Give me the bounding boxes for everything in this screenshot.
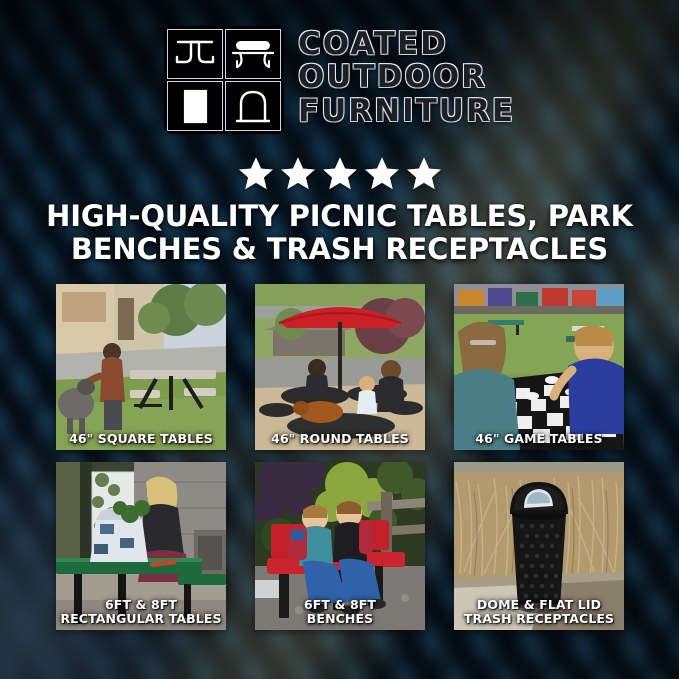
product-photo-square-tables (56, 284, 226, 450)
product-label-line-2: RECTANGULAR TABLES (59, 612, 223, 625)
product-label: 46" GAME TABLES (454, 432, 624, 445)
product-label-line-2: BENCHES (258, 612, 422, 625)
product-label-line-2: TRASH RECEPTACLES (457, 612, 621, 625)
star-rating (0, 157, 679, 190)
product-label-line-1: DOME & FLAT LID (477, 597, 601, 612)
product-label: 46" ROUND TABLES (255, 432, 425, 445)
picnic-table-icon (167, 29, 223, 79)
page-title: HIGH-QUALITY PICNIC TABLES, PARK BENCHES… (0, 200, 679, 266)
wordmark-line-1: COATED (298, 28, 515, 61)
product-tile-trash-receptacles[interactable]: DOME & FLAT LID TRASH RECEPTACLES (454, 462, 624, 630)
park-bench-icon (225, 29, 281, 79)
brand-wordmark: COATED OUTDOOR FURNITURE (298, 26, 515, 128)
headline-line-1: HIGH-QUALITY PICNIC TABLES, PARK (46, 199, 633, 233)
promo-banner: COATED OUTDOOR FURNITURE HIGH-QUALITY PI… (0, 0, 679, 679)
product-label-line-1: 46" ROUND TABLES (271, 431, 409, 446)
product-tile-game-tables[interactable]: 46" GAME TABLES (454, 284, 624, 450)
product-label-line-1: 46" GAME TABLES (475, 431, 602, 446)
product-grid: 46" SQUARE TABLES (56, 284, 624, 630)
star-icon (365, 157, 399, 190)
product-tile-rectangular-tables[interactable]: 6FT & 8FT RECTANGULAR TABLES (56, 462, 226, 630)
wordmark-line-3: FURNITURE (298, 95, 515, 128)
dome-lid-icon (225, 81, 281, 131)
product-label-line-1: 6FT & 8FT (304, 597, 376, 612)
wordmark-line-2: OUTDOOR (298, 61, 515, 94)
product-label: 6FT & 8FT RECTANGULAR TABLES (56, 598, 226, 625)
product-label: DOME & FLAT LID TRASH RECEPTACLES (454, 598, 624, 625)
headline-line-2: BENCHES & TRASH RECEPTACLES (0, 233, 679, 266)
product-tile-benches[interactable]: 6FT & 8FT BENCHES (255, 462, 425, 630)
product-photo-game-tables (454, 284, 624, 450)
product-label: 46" SQUARE TABLES (56, 432, 226, 445)
product-label: 6FT & 8FT BENCHES (255, 598, 425, 625)
star-icon (239, 157, 273, 190)
product-tile-square-tables[interactable]: 46" SQUARE TABLES (56, 284, 226, 450)
product-label-line-1: 6FT & 8FT (105, 597, 177, 612)
brand-logo (164, 26, 284, 134)
star-icon (281, 157, 315, 190)
star-icon (323, 157, 357, 190)
product-tile-round-tables[interactable]: 46" ROUND TABLES (255, 284, 425, 450)
product-photo-round-tables (255, 284, 425, 450)
star-icon (407, 157, 441, 190)
brand-header: COATED OUTDOOR FURNITURE (0, 26, 679, 134)
product-label-line-1: 46" SQUARE TABLES (69, 431, 213, 446)
trash-receptacle-icon (167, 81, 223, 131)
